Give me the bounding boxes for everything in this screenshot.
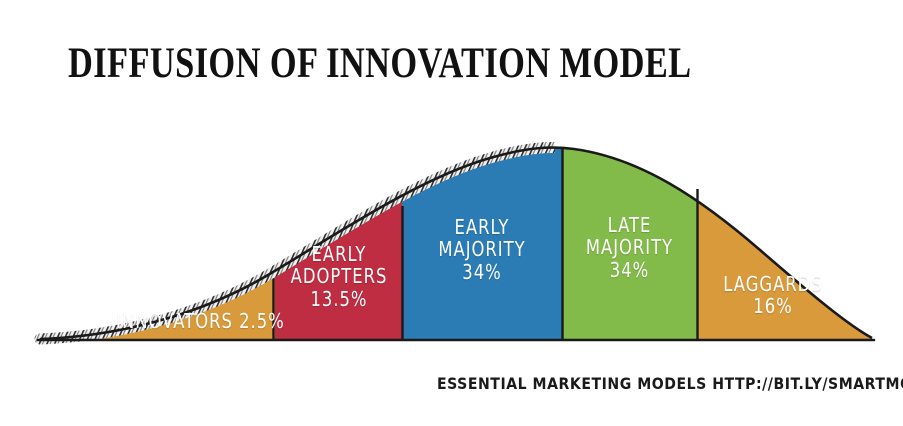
segment-label-early-adopters: EARLY ADOPTERS 13.5% xyxy=(289,243,389,310)
segment-label-early-majority: EARLY MAJORITY 34% xyxy=(418,216,546,283)
segment-label-late-majority: LATE MAJORITY 34% xyxy=(576,214,683,281)
diffusion-curve-chart xyxy=(0,0,903,426)
segment-label-laggards: LAGGARDS 16% xyxy=(712,273,833,318)
segment-label-innovators: INNOVATORS 2.5% xyxy=(116,310,264,332)
diagram-canvas: DIFFUSION OF INNOVATION MODEL xyxy=(0,0,903,426)
source-attribution: ESSENTIAL MARKETING MODELS HTTP://BIT.LY… xyxy=(437,374,903,393)
